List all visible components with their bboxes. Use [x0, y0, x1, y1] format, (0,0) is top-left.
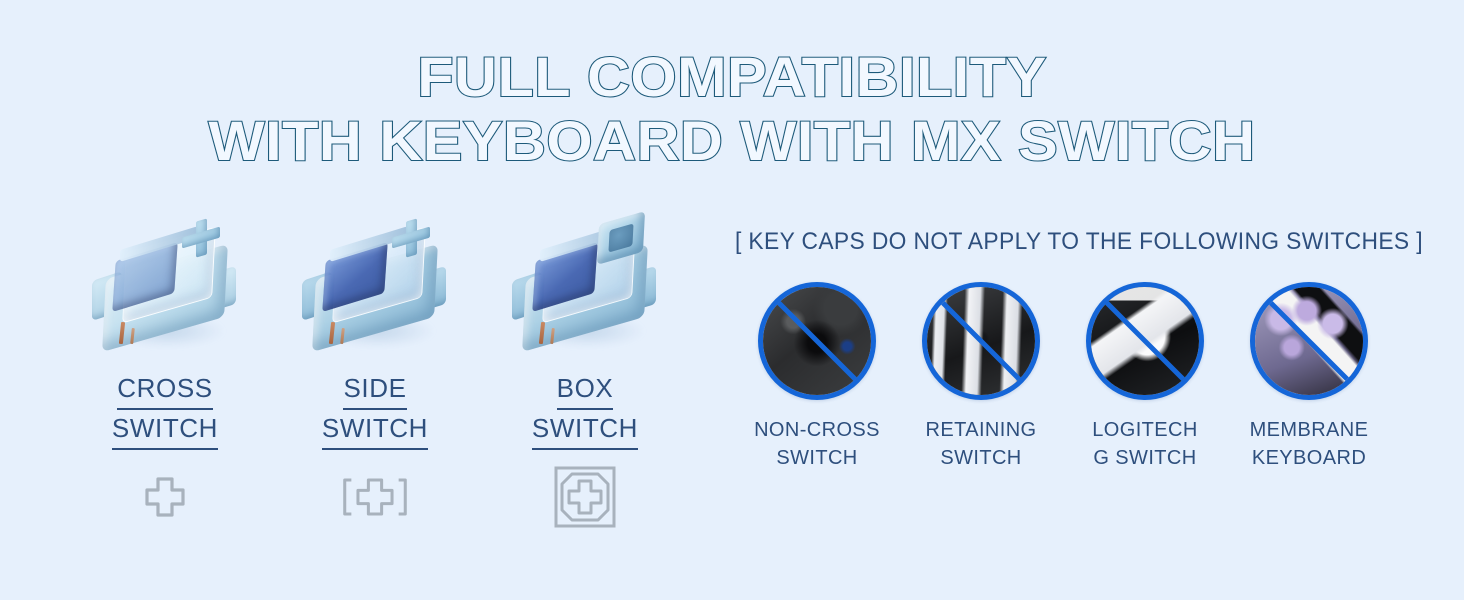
incompatible-caption: LOGITECH G SWITCH	[1063, 416, 1227, 473]
side-stem-icon	[340, 466, 410, 528]
switch-label: SIDE SWITCH	[270, 370, 480, 450]
page-title: FULL COMPATIBILITY WITH KEYBOARD WITH MX…	[0, 48, 1464, 170]
incompatible-list: NON-CROSS SWITCH RETAINING SWITCH	[735, 282, 1425, 473]
side-switch-render	[285, 206, 465, 366]
title-line-1: FULL COMPATIBILITY	[0, 48, 1464, 106]
switch-label-line2: SWITCH	[322, 410, 428, 450]
incompatible-caption: RETAINING SWITCH	[899, 416, 1063, 473]
compatible-switches-panel: CROSS SWITCH	[60, 206, 710, 566]
incompatible-item: LOGITECH G SWITCH	[1063, 282, 1227, 473]
compatible-switch-item: CROSS SWITCH	[60, 206, 270, 528]
caption-line2: G SWITCH	[1093, 447, 1196, 469]
caption-line2: SWITCH	[940, 447, 1021, 469]
membrane-keyboard-photo	[1250, 282, 1368, 400]
caption-line1: LOGITECH	[1092, 419, 1197, 441]
switch-label-line2: SWITCH	[532, 410, 638, 450]
cross-stem-icon	[130, 466, 200, 528]
caption-line1: MEMBRANE	[1250, 419, 1369, 441]
caption-line1: NON-CROSS	[754, 419, 880, 441]
incompatible-switches-panel: [ KEY CAPS DO NOT APPLY TO THE FOLLOWING…	[735, 228, 1425, 473]
switch-label: BOX SWITCH	[480, 370, 690, 450]
box-switch-render	[495, 206, 675, 366]
compatible-switch-item: SIDE SWITCH	[270, 206, 480, 528]
caption-line1: RETAINING	[925, 419, 1036, 441]
non-cross-switch-photo	[758, 282, 876, 400]
switch-label-line2: SWITCH	[112, 410, 218, 450]
switch-label-line1: BOX	[557, 370, 614, 410]
caption-line2: KEYBOARD	[1252, 447, 1366, 469]
cross-switch-render	[75, 206, 255, 366]
incompatible-heading: [ KEY CAPS DO NOT APPLY TO THE FOLLOWING…	[735, 228, 1391, 256]
logitech-g-switch-photo	[1086, 282, 1204, 400]
caption-line2: SWITCH	[776, 447, 857, 469]
incompatible-caption: MEMBRANE KEYBOARD	[1227, 416, 1391, 473]
switch-label-line1: SIDE	[343, 370, 406, 410]
compatible-switch-item: BOX SWITCH	[480, 206, 690, 528]
incompatible-item: NON-CROSS SWITCH	[735, 282, 899, 473]
incompatible-caption: NON-CROSS SWITCH	[735, 416, 899, 473]
incompatible-item: RETAINING SWITCH	[899, 282, 1063, 473]
box-stem-icon	[550, 466, 620, 528]
switch-label-line1: CROSS	[117, 370, 212, 410]
retaining-switch-photo	[922, 282, 1040, 400]
incompatible-item: MEMBRANE KEYBOARD	[1227, 282, 1391, 473]
switch-label: CROSS SWITCH	[60, 370, 270, 450]
infographic-banner: FULL COMPATIBILITY WITH KEYBOARD WITH MX…	[0, 0, 1464, 600]
title-line-2: WITH KEYBOARD WITH MX SWITCH	[0, 112, 1464, 170]
